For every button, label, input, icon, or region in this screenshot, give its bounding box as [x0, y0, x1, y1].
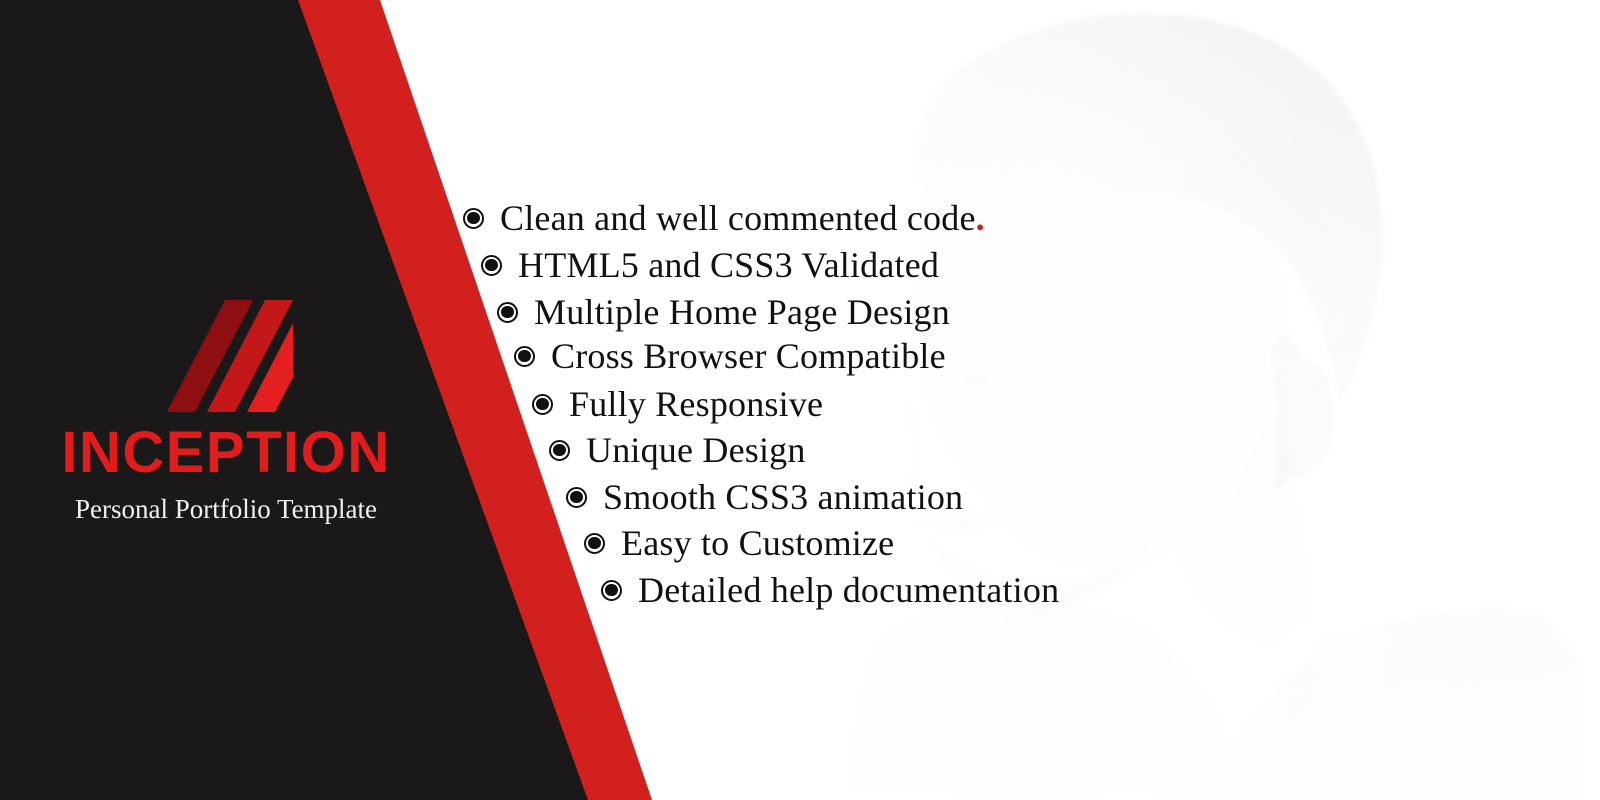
feature-list-item[interactable]: Detailed help documentation	[601, 572, 1059, 608]
filled-ring-bullet-icon	[549, 440, 570, 461]
feature-text: Cross Browser Compatible	[551, 338, 946, 374]
filled-ring-bullet-icon	[514, 346, 535, 367]
brand-block: INCEPTION Personal Portfolio Template	[0, 300, 452, 523]
feature-list-item[interactable]: Unique Design	[549, 432, 806, 468]
feature-list-item[interactable]: Cross Browser Compatible	[514, 338, 946, 374]
feature-text: Smooth CSS3 animation	[603, 479, 963, 515]
filled-ring-bullet-icon	[497, 302, 518, 323]
brand-name: INCEPTION	[0, 424, 452, 482]
feature-text: Unique Design	[586, 432, 806, 468]
filled-ring-bullet-icon	[481, 255, 502, 276]
feature-list-item[interactable]: Smooth CSS3 animation	[566, 479, 963, 515]
feature-list-item[interactable]: Fully Responsive	[532, 386, 823, 422]
feature-text: Clean and well commented code	[500, 200, 976, 236]
feature-list-item[interactable]: Multiple Home Page Design	[497, 294, 950, 330]
filled-ring-bullet-icon	[601, 580, 622, 601]
faded-male-portrait-photo-icon	[780, 0, 1600, 800]
feature-text: HTML5 and CSS3 Validated	[518, 247, 939, 283]
filled-ring-bullet-icon	[463, 208, 484, 229]
triple-slash-mark-icon	[159, 300, 293, 412]
feature-list-item[interactable]: Clean and well commented code.	[463, 200, 985, 236]
brand-tagline: Personal Portfolio Template	[0, 496, 452, 523]
feature-text: Fully Responsive	[569, 386, 823, 422]
feature-text: Detailed help documentation	[638, 572, 1059, 608]
feature-list-item[interactable]: Easy to Customize	[584, 525, 894, 561]
filled-ring-bullet-icon	[532, 394, 553, 415]
filled-ring-bullet-icon	[584, 533, 605, 554]
filled-ring-bullet-icon	[566, 487, 587, 508]
accent-period: .	[976, 200, 985, 236]
feature-text: Easy to Customize	[621, 525, 894, 561]
promo-banner: INCEPTION Personal Portfolio Template Cl…	[0, 0, 1600, 800]
feature-list-item[interactable]: HTML5 and CSS3 Validated	[481, 247, 939, 283]
feature-text: Multiple Home Page Design	[534, 294, 950, 330]
